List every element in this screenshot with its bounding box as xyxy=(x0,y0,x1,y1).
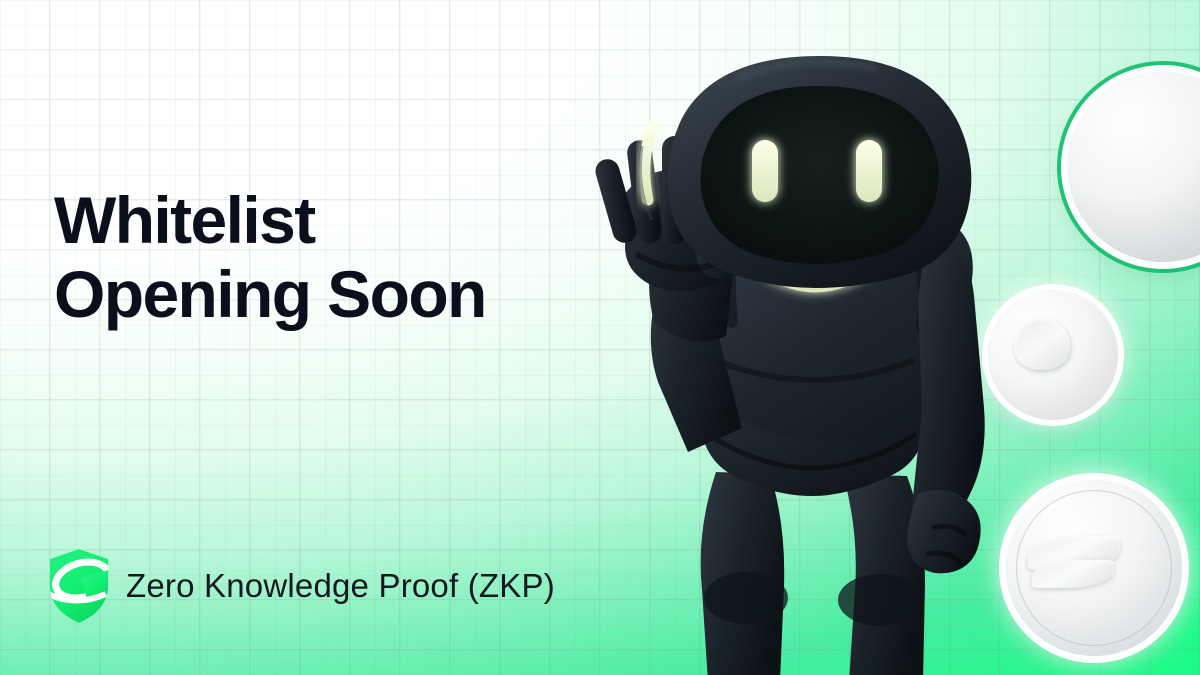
robot-legs xyxy=(701,472,925,675)
brand-name-label: Zero Knowledge Proof (ZKP) xyxy=(126,567,555,605)
waving-robot-mascot xyxy=(588,42,1088,675)
promo-banner: Whitelist Opening Soon xyxy=(0,0,1200,675)
brand-lockup: Zero Knowledge Proof (ZKP) xyxy=(48,548,555,624)
shield-swoosh-icon xyxy=(48,548,110,624)
robot-eye-right xyxy=(856,140,882,202)
robot-eye-left xyxy=(752,140,778,202)
page-title: Whitelist Opening Soon xyxy=(54,184,486,332)
robot-face-plate xyxy=(700,86,938,264)
